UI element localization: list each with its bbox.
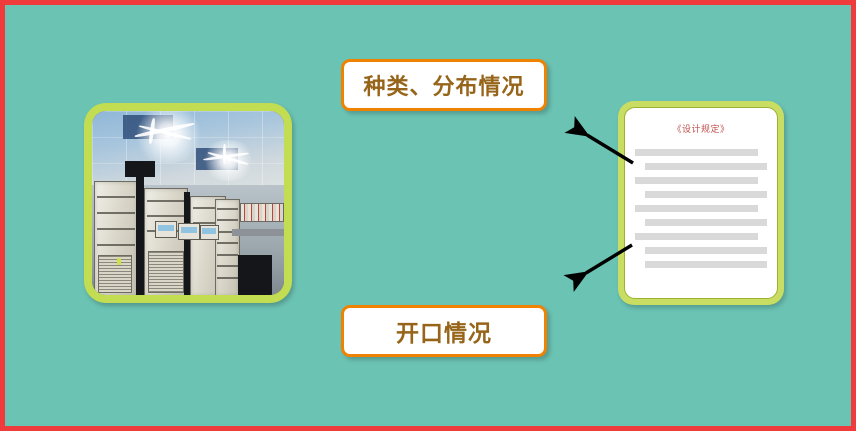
photo-image <box>92 111 284 295</box>
light-burst <box>200 140 258 180</box>
rack-indicator <box>117 258 121 265</box>
callout-top[interactable]: 种类、分布情况 <box>341 59 547 111</box>
design-regulation-document[interactable]: 《设计规定》 <box>618 101 784 305</box>
callout-top-label: 种类、分布情况 <box>363 69 524 101</box>
document-text-line <box>645 219 767 226</box>
document-text-line <box>645 247 767 254</box>
callout-bottom[interactable]: 开口情况 <box>341 305 547 357</box>
document-text-line <box>635 177 758 184</box>
equipment-room-photo <box>84 103 292 303</box>
rack-column <box>136 166 144 295</box>
document-text-line <box>645 191 767 198</box>
binder-shelf <box>240 203 284 222</box>
rack-grille <box>98 255 133 294</box>
slide-canvas: 种类、分布情况 开口情况 《设计规定》 <box>0 0 856 431</box>
document-text-line <box>635 149 758 156</box>
document-text-line <box>635 233 758 240</box>
light-burst <box>130 111 207 163</box>
floor-shadow <box>238 255 273 295</box>
document-page: 《设计规定》 <box>624 107 778 299</box>
rack-top-box <box>125 161 156 178</box>
shelf-counter <box>232 229 284 236</box>
equipment-rack <box>215 199 240 295</box>
document-text-line <box>645 261 767 268</box>
rack-grille <box>148 251 185 293</box>
document-title: 《设计规定》 <box>635 122 767 135</box>
callout-bottom-label: 开口情况 <box>396 314 492 348</box>
rack-monitor <box>178 223 199 240</box>
light-ray <box>223 144 226 164</box>
rack-monitor <box>200 225 219 240</box>
rack-monitor <box>155 221 176 238</box>
document-text-line <box>635 205 758 212</box>
document-text-line <box>645 163 767 170</box>
